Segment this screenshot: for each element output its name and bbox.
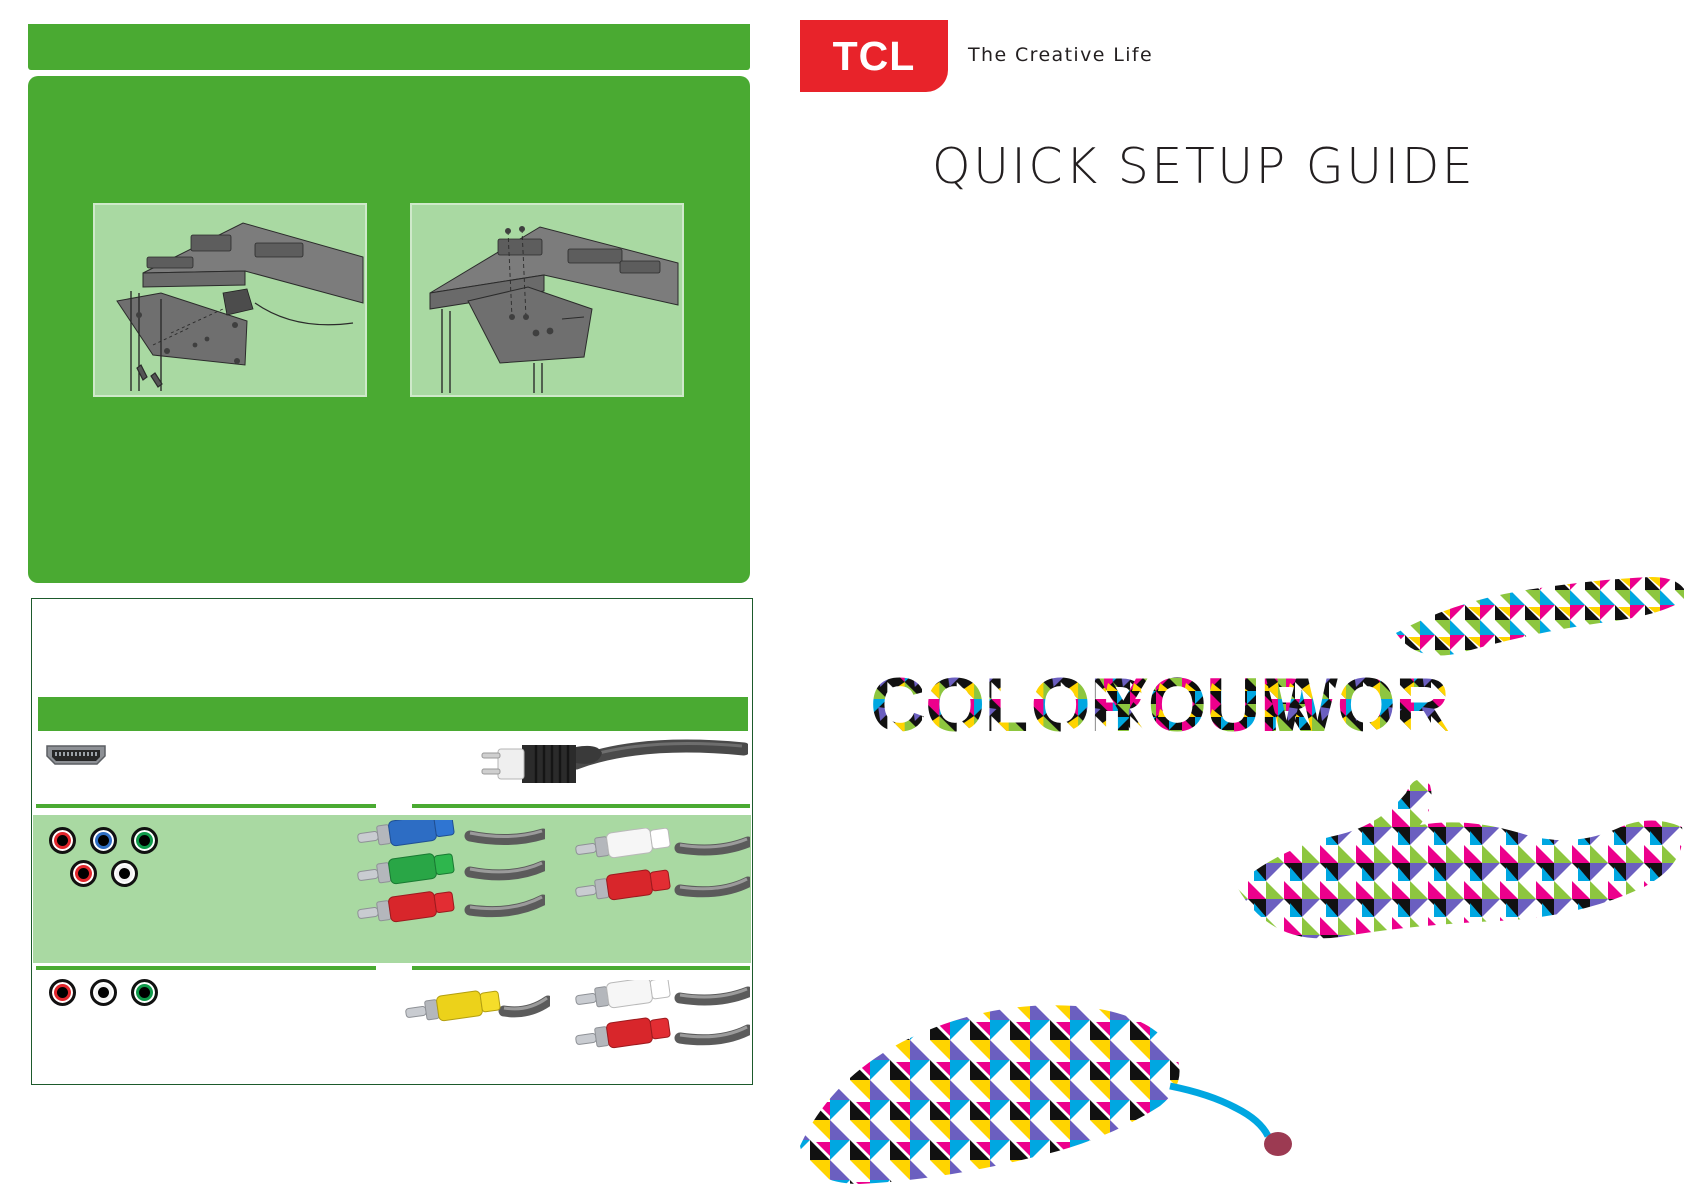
- diagram-tv-stand-base-attach: [93, 203, 367, 397]
- jack-cluster-composite-av: [49, 979, 158, 1006]
- divider-left-upper: [36, 804, 376, 808]
- divider-right-lower: [412, 966, 750, 970]
- divider-right-upper: [412, 804, 750, 808]
- jack-av-green: [131, 979, 158, 1006]
- tcl-logo-text: TCL: [833, 33, 916, 80]
- jack-cluster-component: [49, 827, 158, 887]
- left-panel: [0, 0, 790, 1191]
- slogan-wordmark: COLOR YOUR WORLD: [870, 665, 1450, 745]
- jack-line-video: [49, 827, 158, 854]
- decorative-swoosh-bottom: [790, 900, 1310, 1190]
- divider-left-lower: [36, 966, 376, 970]
- jack-pr-red: [49, 827, 76, 854]
- jack-audio-l-white: [111, 860, 138, 887]
- diagram-tv-stand-base-mounted: [410, 203, 684, 397]
- hdmi-port-icon: [45, 742, 107, 766]
- jack-line-audio: [70, 860, 138, 887]
- right-panel: TCL The Creative Life QUICK SETUP GUIDE: [790, 0, 1684, 1191]
- spec-table-header-bar: [38, 697, 748, 731]
- section-header-bar: [28, 24, 750, 70]
- page-title: QUICK SETUP GUIDE: [932, 138, 1475, 195]
- composite-rca-cable-image: [400, 985, 550, 1065]
- jack-y-green: [131, 827, 158, 854]
- jack-audio-r-red: [70, 860, 97, 887]
- jack-av-red: [49, 979, 76, 1006]
- tcl-logo: TCL: [800, 20, 948, 92]
- audio-rca-cable-image-upper: [570, 828, 750, 928]
- decorative-swoosh-top: [1390, 575, 1684, 685]
- brand-tagline: The Creative Life: [968, 44, 1153, 66]
- audio-rca-cable-image-lower: [570, 980, 750, 1075]
- component-rca-cable-image: [350, 820, 545, 945]
- jack-av-white: [90, 979, 117, 1006]
- power-cord-image: [480, 733, 748, 797]
- jack-pb-blue: [90, 827, 117, 854]
